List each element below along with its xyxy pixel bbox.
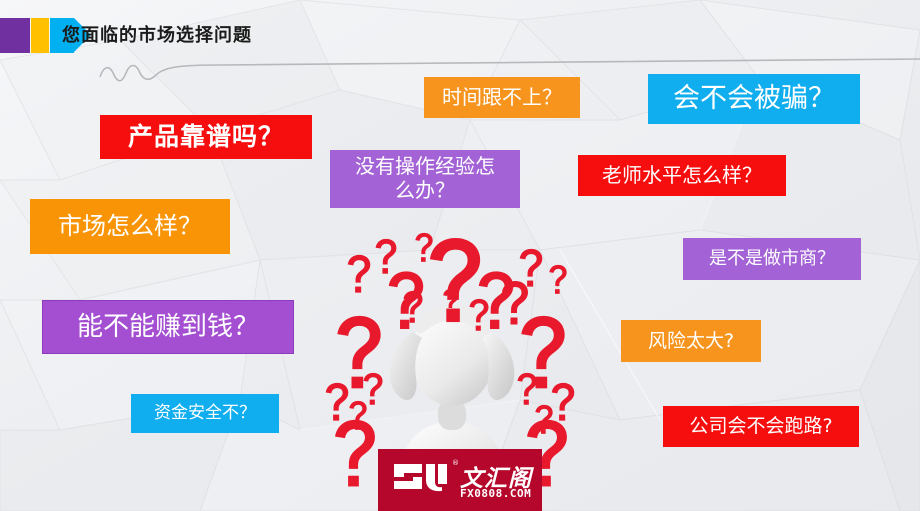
logo-mark-icon xyxy=(392,460,450,492)
header-block-purple xyxy=(0,18,30,53)
label-funds-safe[interactable]: 资金安全不？ xyxy=(131,394,279,433)
label-will-be-cheated[interactable]: 会不会被骗？ xyxy=(648,74,860,124)
label-can-earn-money[interactable]: 能不能赚到钱？ xyxy=(42,300,294,354)
header: 您面临的市场选择问题 xyxy=(0,0,920,62)
page-title: 您面临的市场选择问题 xyxy=(62,21,252,47)
slide-canvas: 您面临的市场选择问题 xyxy=(0,0,920,511)
label-product-reliable[interactable]: 产品靠谱吗？ xyxy=(100,115,312,159)
label-risk-too-big[interactable]: 风险太大? xyxy=(621,320,761,362)
header-block-gold xyxy=(31,18,49,53)
registered-mark: ® xyxy=(452,459,459,467)
label-is-market-maker[interactable]: 是不是做市商？ xyxy=(683,238,861,280)
logo-url: FX0808.COM xyxy=(460,487,531,500)
label-no-experience[interactable]: 没有操作经验怎 么办？ xyxy=(330,150,520,208)
label-market-how[interactable]: 市场怎么样？ xyxy=(30,199,230,254)
watermark-logo: ® 文汇阁 FX0808.COM xyxy=(378,449,542,511)
label-no-time[interactable]: 时间跟不上？ xyxy=(424,77,580,118)
label-teacher-level[interactable]: 老师水平怎么样？ xyxy=(578,155,786,196)
label-company-run-away[interactable]: 公司会不会跑路? xyxy=(663,406,859,447)
